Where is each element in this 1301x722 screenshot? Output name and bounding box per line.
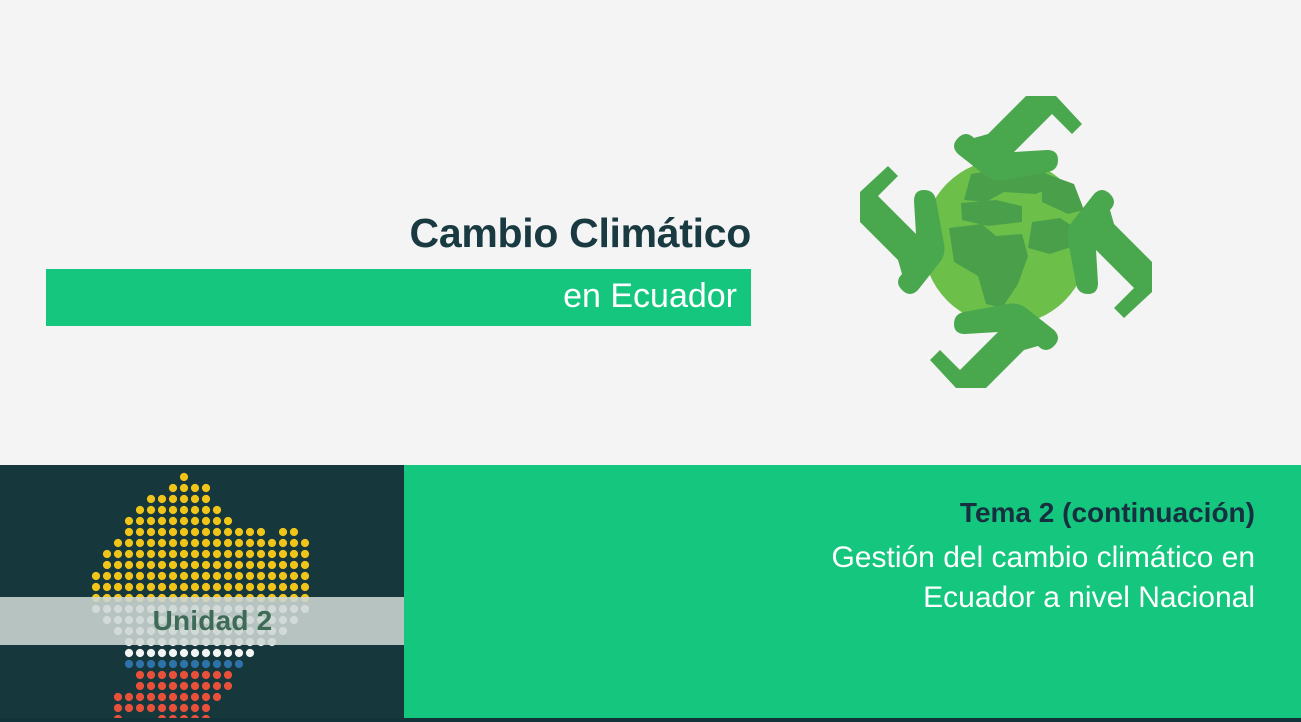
topic-heading: Tema 2 (continuación) <box>424 498 1255 529</box>
topic-panel: Tema 2 (continuación) Gestión del cambio… <box>404 465 1301 718</box>
topic-line-1: Gestión del cambio climático en <box>424 538 1255 578</box>
title-section: Cambio Climático en Ecuador <box>0 0 1301 465</box>
topic-line-2: Ecuador a nivel Nacional <box>424 578 1255 618</box>
unit-band: Unidad 2 <box>0 597 404 645</box>
footer-section: Unidad 2 Tema 2 (continuación) Gestión d… <box>0 465 1301 722</box>
subtitle-text: en Ecuador <box>563 275 737 318</box>
unit-panel: Unidad 2 <box>0 465 404 718</box>
topic-description: Gestión del cambio climático en Ecuador … <box>424 538 1255 617</box>
ecuador-dotted-map <box>0 465 404 718</box>
earth-hands-sustainability-icon <box>836 76 1176 406</box>
bottom-accent-strip <box>0 718 1301 722</box>
subtitle-banner: en Ecuador <box>46 269 751 326</box>
slide-root: Cambio Climático en Ecuador <box>0 0 1301 722</box>
unit-label: Unidad 2 <box>0 597 404 645</box>
page-title: Cambio Climático <box>46 213 751 254</box>
